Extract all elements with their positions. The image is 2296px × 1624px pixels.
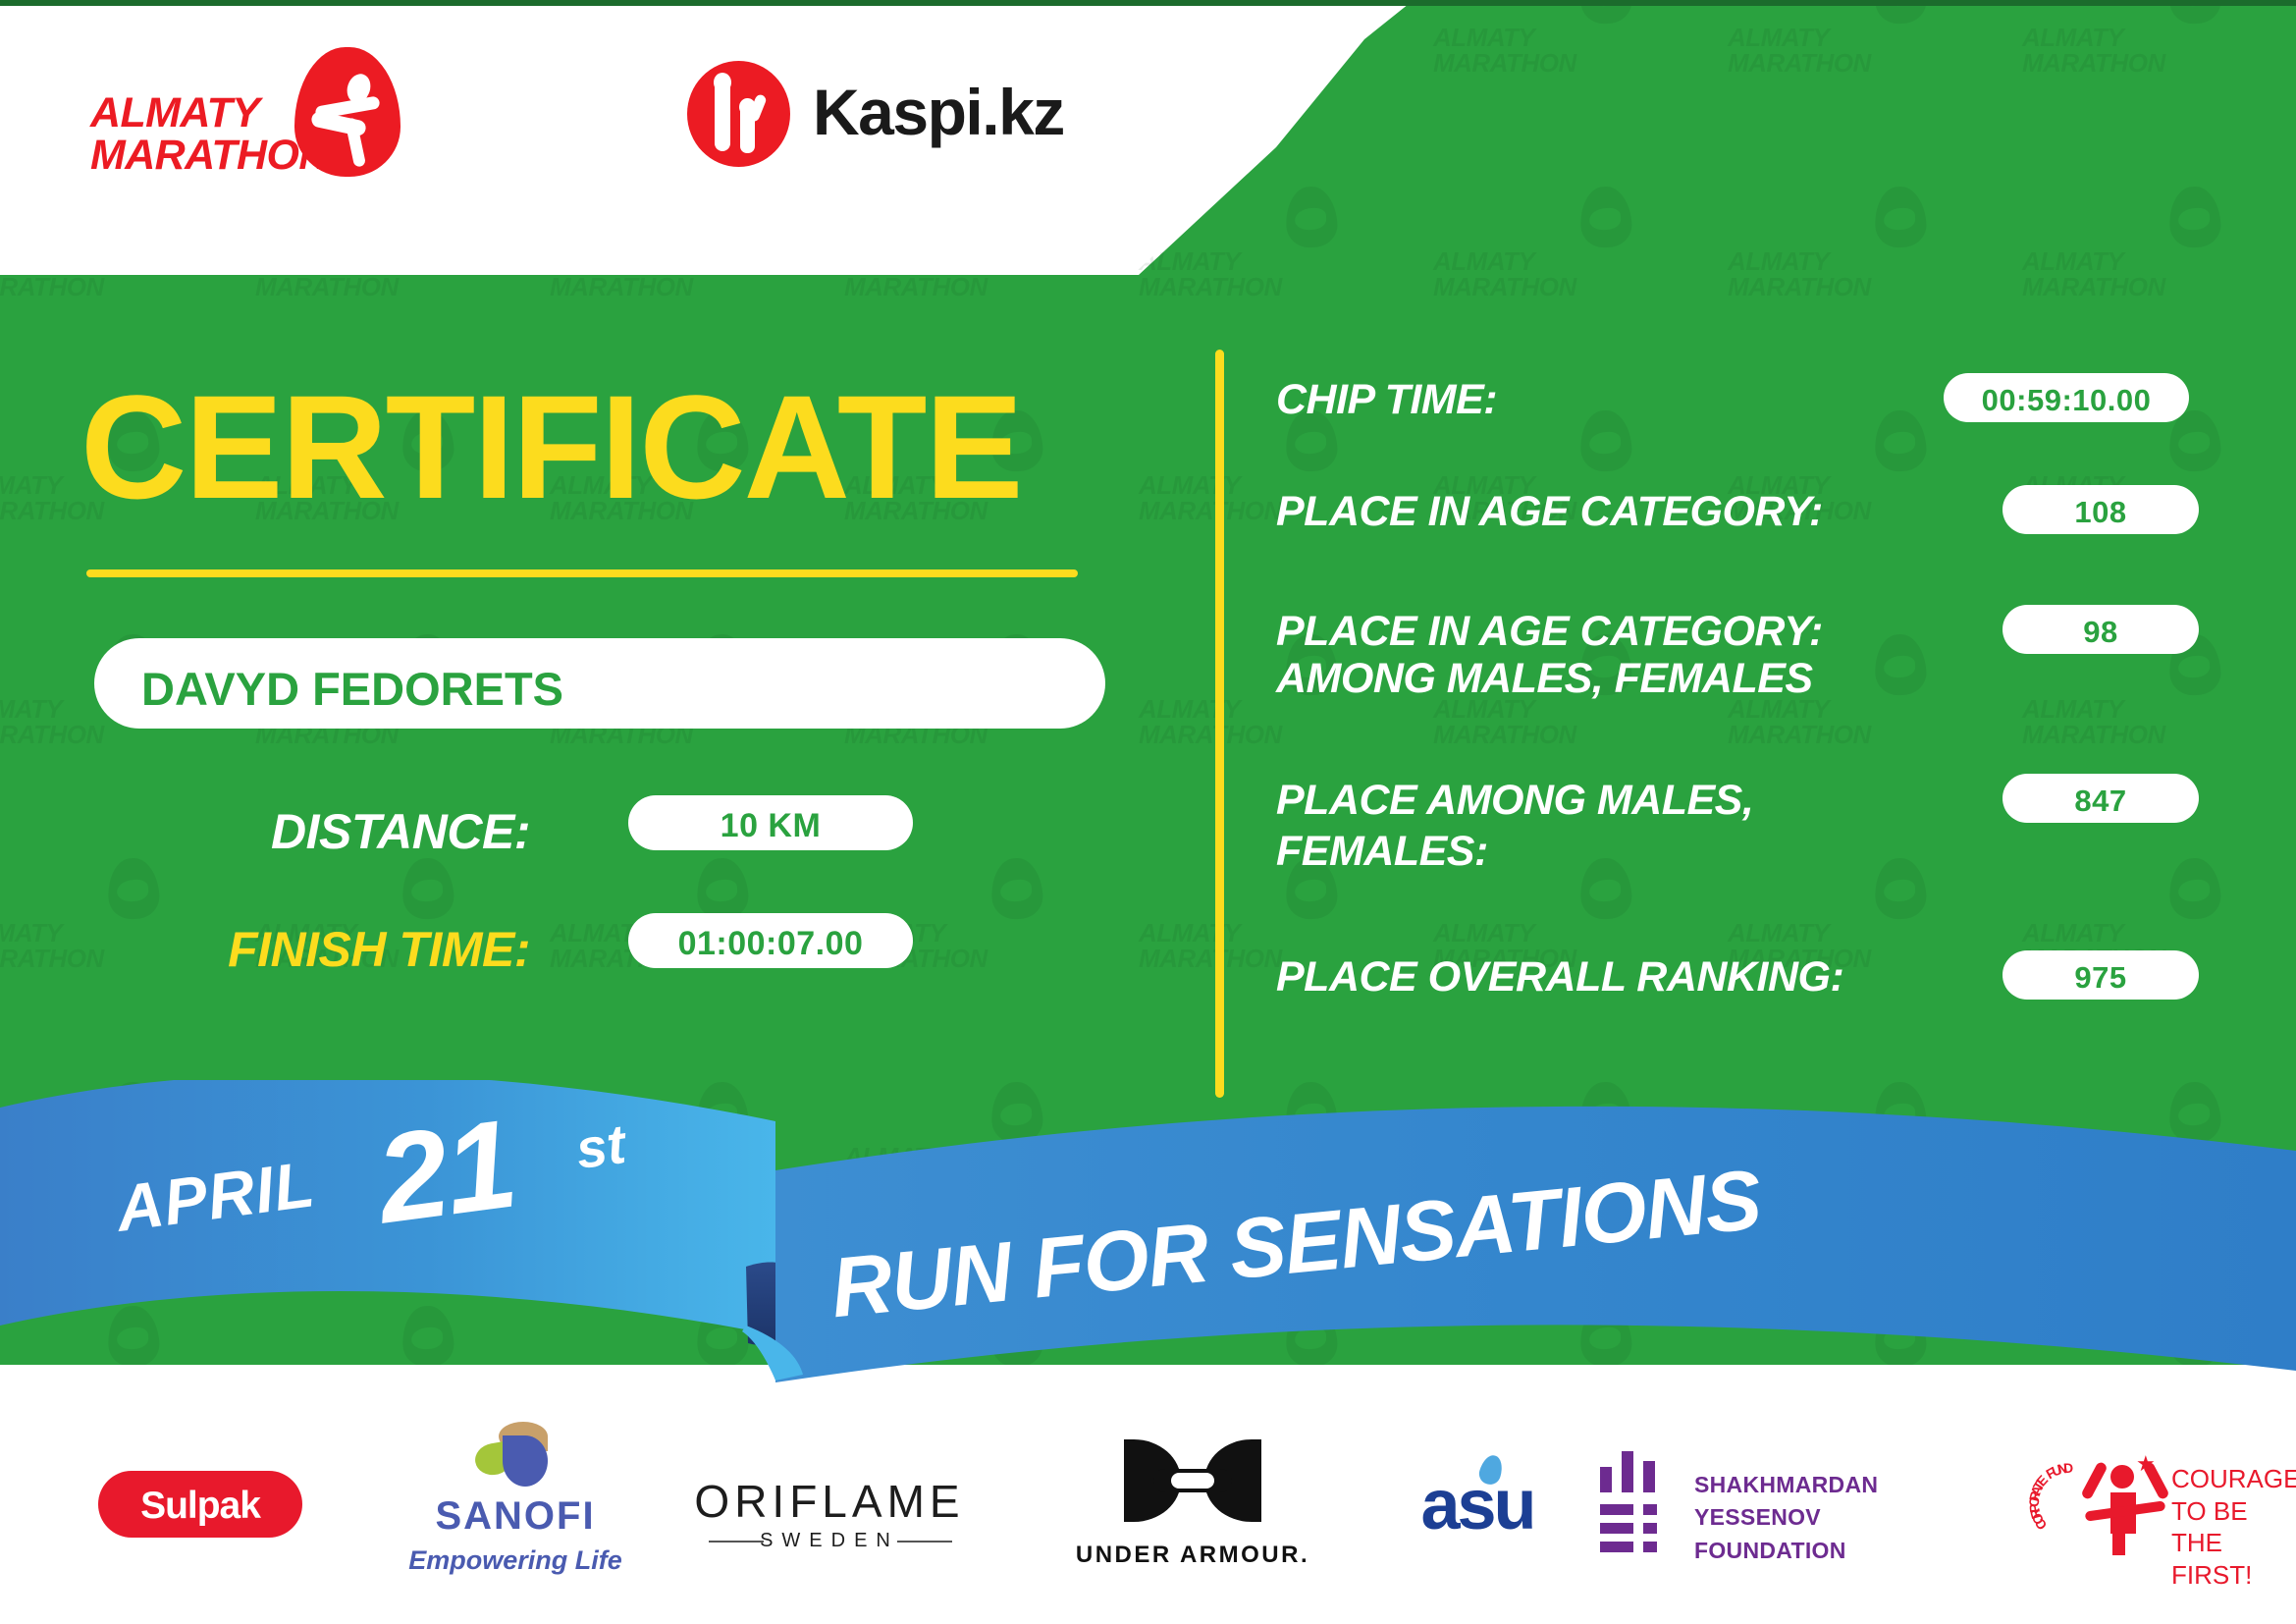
stat-row-place-age-category: PLACE IN AGE CATEGORY: 108 [1276, 485, 2258, 601]
stat-value: 108 [2002, 495, 2199, 530]
asu-logo-text: asu [1374, 1465, 1580, 1545]
sponsor-courage-fund: CORPORATE FUND ★ COURAGE TO BE THE FIRST… [2022, 1404, 2268, 1624]
stat-label-line-1: PLACE AMONG MALES, [1276, 778, 1753, 823]
sulpak-logo: Sulpak [98, 1471, 302, 1538]
stat-value-pill: 108 [2002, 485, 2199, 534]
page-title: CERTIFICATE [80, 373, 1150, 520]
finish-time-value-pill: 01:00:07.00 [628, 913, 913, 968]
stat-value-pill: 847 [2002, 774, 2199, 823]
stat-value: 98 [2002, 615, 2199, 650]
stat-label: PLACE OVERALL RANKING: [1276, 954, 1843, 1000]
stat-value-pill: 98 [2002, 605, 2199, 654]
stat-row-place-among-males-females: PLACE AMONG MALES, FEMALES: 847 [1276, 774, 2258, 947]
almaty-marathon-logo: ALMATY MARATHON [90, 47, 444, 170]
stat-label-line-2: AMONG MALES, FEMALES [1276, 656, 1813, 701]
sponsor-asu: asu [1374, 1404, 1580, 1624]
distance-value: 10 KM [628, 807, 913, 845]
certificate-page: ALMATYMARATHONALMATYMARATHONALMATYMARATH… [0, 0, 2296, 1624]
stat-row-chip-time: CHIP TIME: 00:59:10.00 [1276, 373, 2258, 481]
stats-panel: CHIP TIME: 00:59:10.00 PLACE IN AGE CATE… [1276, 373, 2258, 1043]
header: ALMATY MARATHON Kaspi.kz [0, 0, 1423, 275]
sponsor-bar: Sulpak SANOFI Empowering Life ORIFLAME S… [0, 1404, 2296, 1624]
sponsor-yessenov-foundation: SHAKHMARDAN YESSENOV FOUNDATION [1600, 1404, 1973, 1624]
sanofi-logo-text: SANOFI [402, 1494, 628, 1539]
sanofi-icon [469, 1422, 558, 1487]
stat-value-pill: 975 [2002, 950, 2199, 1000]
stat-label-line-2: FEMALES: [1276, 829, 1488, 874]
ribbon-day: 21 [369, 1092, 522, 1253]
stat-label: CHIP TIME: [1276, 377, 1497, 422]
title-divider [86, 569, 1078, 577]
almaty-marathon-logo-text: ALMATY MARATHON [90, 92, 329, 176]
courage-line-2: TO BE [2171, 1495, 2296, 1528]
sponsor-under-armour: UNDER ARMOUR. [1070, 1404, 1315, 1624]
yessenov-icon [1600, 1451, 1673, 1559]
courage-logo-text: COURAGE TO BE THE FIRST! [2171, 1463, 2296, 1591]
stat-label: PLACE IN AGE CATEGORY: [1276, 489, 1823, 534]
finish-time-label: FINISH TIME: [228, 921, 530, 978]
sulpak-logo-text: Sulpak [98, 1485, 302, 1528]
participant-name-value: DAVYD FEDORETS [141, 662, 563, 716]
logo-line-2: MARATHON [90, 135, 329, 177]
vertical-divider [1215, 350, 1224, 1098]
courage-line-3: THE FIRST! [2171, 1527, 2296, 1591]
finish-time-row: FINISH TIME: 01:00:07.00 [0, 913, 1158, 982]
sponsor-oriflame: ORIFLAME SWEDEN [687, 1404, 972, 1624]
distance-value-pill: 10 KM [628, 795, 913, 850]
courage-figure-icon: ★ [2087, 1455, 2163, 1555]
runner-droplet-icon [294, 47, 400, 177]
participant-name-field: DAVYD FEDORETS [94, 638, 1105, 729]
stat-row-place-age-category-among: PLACE IN AGE CATEGORY: AMONG MALES, FEMA… [1276, 605, 2258, 770]
sanofi-tagline: Empowering Life [402, 1545, 628, 1576]
kaspi-people-icon [687, 61, 790, 167]
logo-line-1: ALMATY [90, 92, 329, 135]
courage-line-1: COURAGE [2171, 1463, 2296, 1495]
kaspi-logo: Kaspi.kz [687, 61, 1099, 169]
yessenov-logo-text: SHAKHMARDAN YESSENOV FOUNDATION [1694, 1469, 1973, 1567]
stat-value: 00:59:10.00 [1944, 383, 2189, 418]
finish-time-value: 01:00:07.00 [628, 925, 913, 963]
oriflame-logo-text: ORIFLAME [687, 1475, 972, 1528]
stat-value: 847 [2002, 784, 2199, 819]
stat-value-pill: 00:59:10.00 [1944, 373, 2189, 422]
stat-value: 975 [2002, 960, 2199, 996]
stat-row-place-overall-ranking: PLACE OVERALL RANKING: 975 [1276, 950, 2258, 1039]
under-armour-logo-text: UNDER ARMOUR. [1070, 1542, 1315, 1569]
ribbon-ordinal: st [572, 1111, 629, 1181]
distance-row: DISTANCE: 10 KM [0, 795, 1158, 864]
kaspi-logo-text: Kaspi.kz [813, 75, 1064, 149]
sponsor-sanofi: SANOFI Empowering Life [402, 1404, 628, 1624]
sponsor-sulpak: Sulpak [98, 1404, 344, 1624]
yessenov-line-2: FOUNDATION [1694, 1535, 1973, 1567]
oriflame-rule-right [897, 1541, 952, 1543]
arc-letter: D [2063, 1460, 2073, 1476]
yessenov-line-1: SHAKHMARDAN YESSENOV [1694, 1469, 1973, 1535]
distance-label: DISTANCE: [271, 803, 530, 860]
under-armour-icon [1124, 1439, 1261, 1522]
stat-label-line-1: PLACE IN AGE CATEGORY: [1276, 609, 1823, 654]
